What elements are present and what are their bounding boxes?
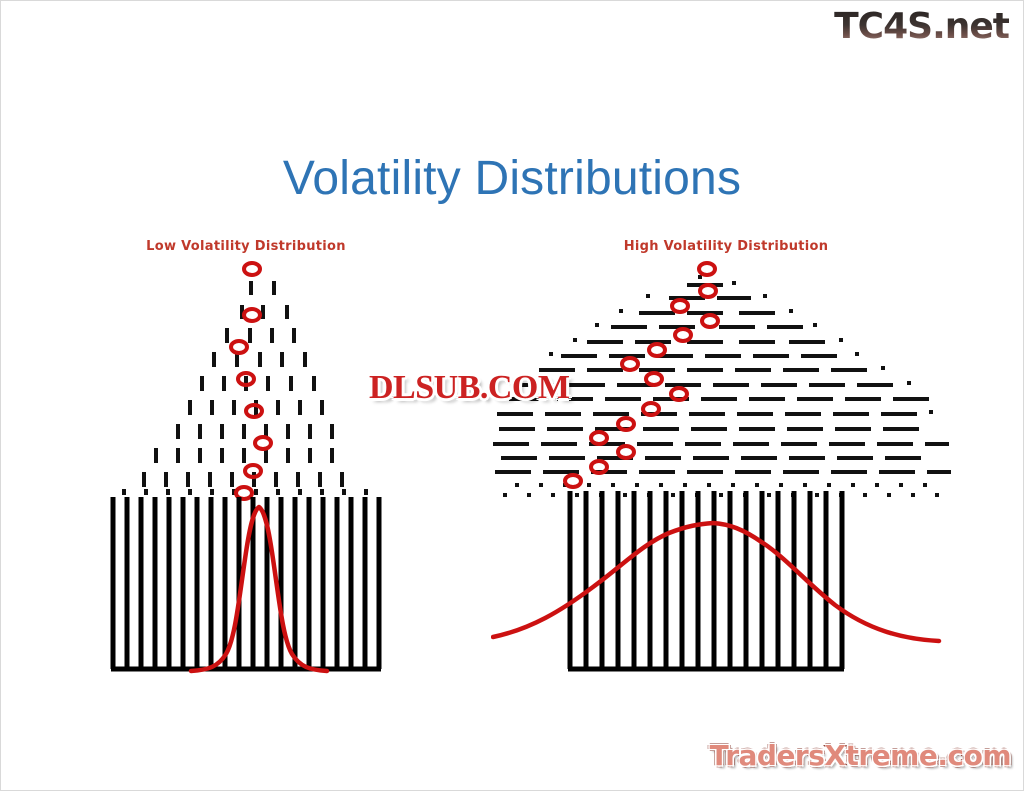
high-vol-bars [570,491,842,669]
high-volatility-plot [491,239,961,679]
tradersxtreme-brand-logo: TradersXtreme.com [710,739,1011,772]
low-vol-peg-stub-row [124,489,366,495]
high-volatility-chart-label: High Volatility Distribution [491,239,961,254]
low-vol-bars [113,497,379,669]
low-vol-ball-path [231,263,271,499]
low-volatility-chart-label: Low Volatility Distribution [96,239,396,254]
slide-canvas: TC4S.net Volatility Distributions Low Vo… [0,0,1024,791]
tc4s-brand-logo: TC4S.net [834,9,1009,45]
high-volatility-chart: High Volatility Distribution [491,239,961,679]
low-volatility-chart: Low Volatility Distribution [96,239,396,679]
page-title: Volatility Distributions [1,151,1023,206]
dlsub-watermark: DLSUB.COM [369,369,569,407]
low-volatility-plot [96,239,396,679]
